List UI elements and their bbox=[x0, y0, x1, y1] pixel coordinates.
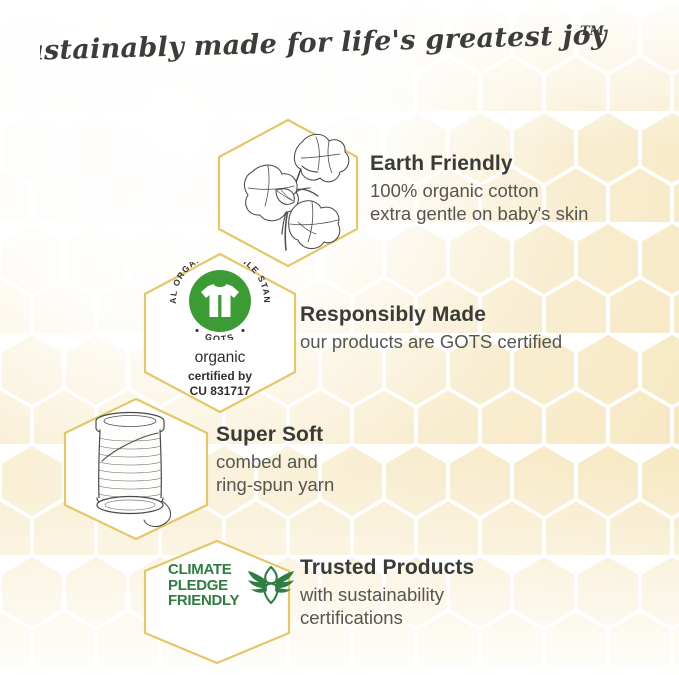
feature-line: 100% organic cotton bbox=[370, 179, 588, 203]
gots-organic-caption: organic bbox=[145, 349, 295, 366]
climate-pledge-friendly-logo: CLIMATE PLEDGE FRIENDLY bbox=[168, 562, 295, 609]
thread-spool-icon bbox=[82, 406, 194, 532]
cpf-line-2: PLEDGE bbox=[168, 578, 239, 594]
gots-logo-icon: GLOBAL ORGANIC TEXTILE STANDARD GOTS bbox=[145, 262, 295, 340]
page-title-text: sustainably made for life's greatest joy bbox=[40, 20, 609, 68]
feature-text-super-soft: Super Soft combed and ring-spun yarn bbox=[216, 423, 334, 497]
feature-title: Super Soft bbox=[216, 423, 334, 448]
gots-certification-block: GLOBAL ORGANIC TEXTILE STANDARD GOTS org… bbox=[145, 262, 295, 399]
page-title: sustainably made for life's greatest joy… bbox=[0, 18, 679, 74]
feature-line: extra gentle on baby's skin bbox=[370, 202, 588, 226]
feature-text-trusted-products: Trusted Products with sustainability cer… bbox=[300, 556, 474, 630]
feature-title: Responsibly Made bbox=[300, 303, 562, 328]
feature-text-responsibly-made: Responsibly Made our products are GOTS c… bbox=[300, 303, 562, 353]
cpf-line-3: FRIENDLY bbox=[168, 593, 239, 609]
winged-hourglass-icon bbox=[247, 563, 295, 607]
gots-ring-text-bottom: GOTS bbox=[204, 331, 236, 340]
feature-title: Trusted Products bbox=[300, 556, 474, 581]
cpf-line-1: CLIMATE bbox=[168, 562, 239, 578]
feature-line: certifications bbox=[300, 606, 474, 630]
sustainability-infographic: sustainably made for life's greatest joy… bbox=[0, 0, 679, 675]
trademark-mark: TM bbox=[579, 24, 604, 39]
feature-title: Earth Friendly bbox=[370, 152, 588, 177]
svg-text:GOTS: GOTS bbox=[204, 331, 236, 340]
feature-line: combed and bbox=[216, 450, 334, 474]
feature-line: ring-spun yarn bbox=[216, 473, 334, 497]
feature-line: with sustainability bbox=[300, 583, 474, 607]
cotton-branch-icon bbox=[228, 128, 350, 256]
gots-certified-by-label: certified by bbox=[145, 369, 295, 384]
feature-text-earth-friendly: Earth Friendly 100% organic cotton extra… bbox=[370, 152, 588, 226]
feature-line: our products are GOTS certified bbox=[300, 330, 562, 354]
gots-certificate-number: CU 831717 bbox=[145, 384, 295, 399]
climate-pledge-wordmark: CLIMATE PLEDGE FRIENDLY bbox=[168, 562, 239, 609]
